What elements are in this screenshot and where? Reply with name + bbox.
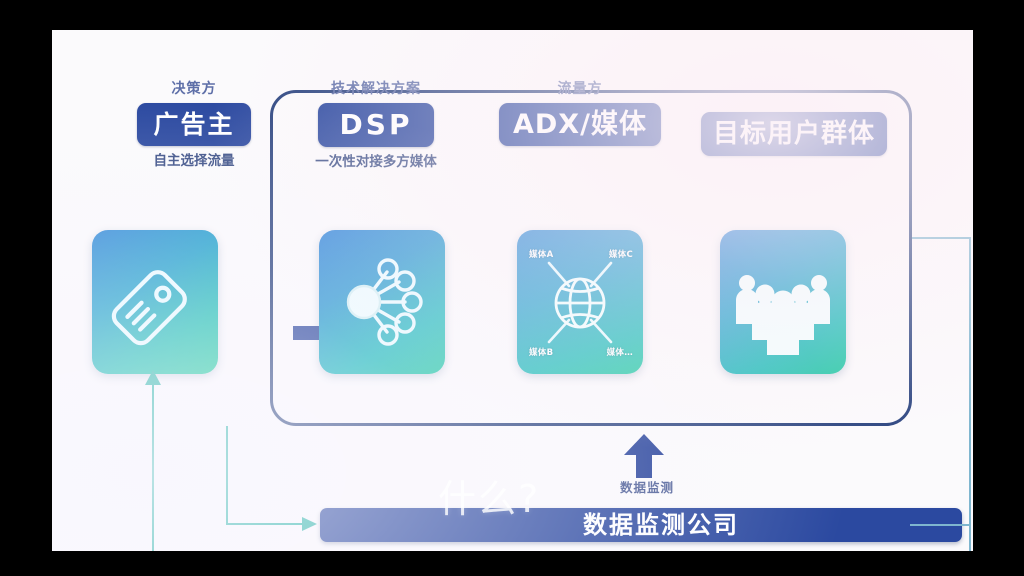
video-frame-stage: 决策方 广告主 自主选择流量 技术解决方案 D xyxy=(0,0,1024,576)
globe-label-media-a: 媒体A xyxy=(529,248,553,260)
connector-elbow-arrowhead-icon xyxy=(302,517,318,532)
column-dsp: 技术解决方案 DSP 一次性对接多方媒体 xyxy=(278,82,474,170)
dsp-kicker: 技术解决方案 xyxy=(278,82,474,96)
adx-kicker: 流量方 xyxy=(482,82,678,96)
connector-right-top-horizontal xyxy=(912,237,970,239)
adx-badge: ADX/媒体 xyxy=(499,103,661,146)
data-monitoring-company-bar: 数据监测公司 xyxy=(320,508,962,542)
connector-left-vertical xyxy=(152,382,154,551)
globe-label-media-c: 媒体C xyxy=(609,248,633,260)
connector-right-bottom-horizontal xyxy=(910,524,970,526)
globe-label-media-more: 媒体… xyxy=(607,346,633,358)
dsp-badge: DSP xyxy=(318,103,435,147)
connector-elbow-horizontal xyxy=(226,523,306,525)
column-advertiser: 决策方 广告主 自主选择流量 xyxy=(108,82,280,169)
connector-elbow-vertical xyxy=(226,426,228,524)
audience-badge: 目标用户群体 xyxy=(701,112,887,156)
user-group-icon xyxy=(720,230,846,374)
advertiser-badge: 广告主 xyxy=(137,103,250,146)
column-audience: 目标用户群体 xyxy=(684,112,904,156)
price-tag-icon xyxy=(92,230,218,374)
connector-right-vertical xyxy=(969,237,971,551)
diagram-canvas: 决策方 广告主 自主选择流量 技术解决方案 D xyxy=(52,30,973,551)
data-monitoring-kicker: 数据监测 xyxy=(592,482,702,495)
globe-label-media-b: 媒体B xyxy=(529,346,553,358)
data-monitoring-company-label: 数据监测公司 xyxy=(320,513,962,537)
dsp-subnote: 一次性对接多方媒体 xyxy=(278,156,474,170)
network-hub-icon xyxy=(319,230,445,374)
advertiser-subnote: 自主选择流量 xyxy=(108,155,280,169)
connector-left-arrowhead-icon xyxy=(144,370,162,386)
data-monitoring-arrow-icon xyxy=(623,434,665,482)
column-adx: 流量方 ADX/媒体 xyxy=(482,82,678,146)
advertiser-kicker: 决策方 xyxy=(108,82,280,96)
globe-network-icon: 媒体A 媒体C 媒体B 媒体… xyxy=(517,230,643,374)
